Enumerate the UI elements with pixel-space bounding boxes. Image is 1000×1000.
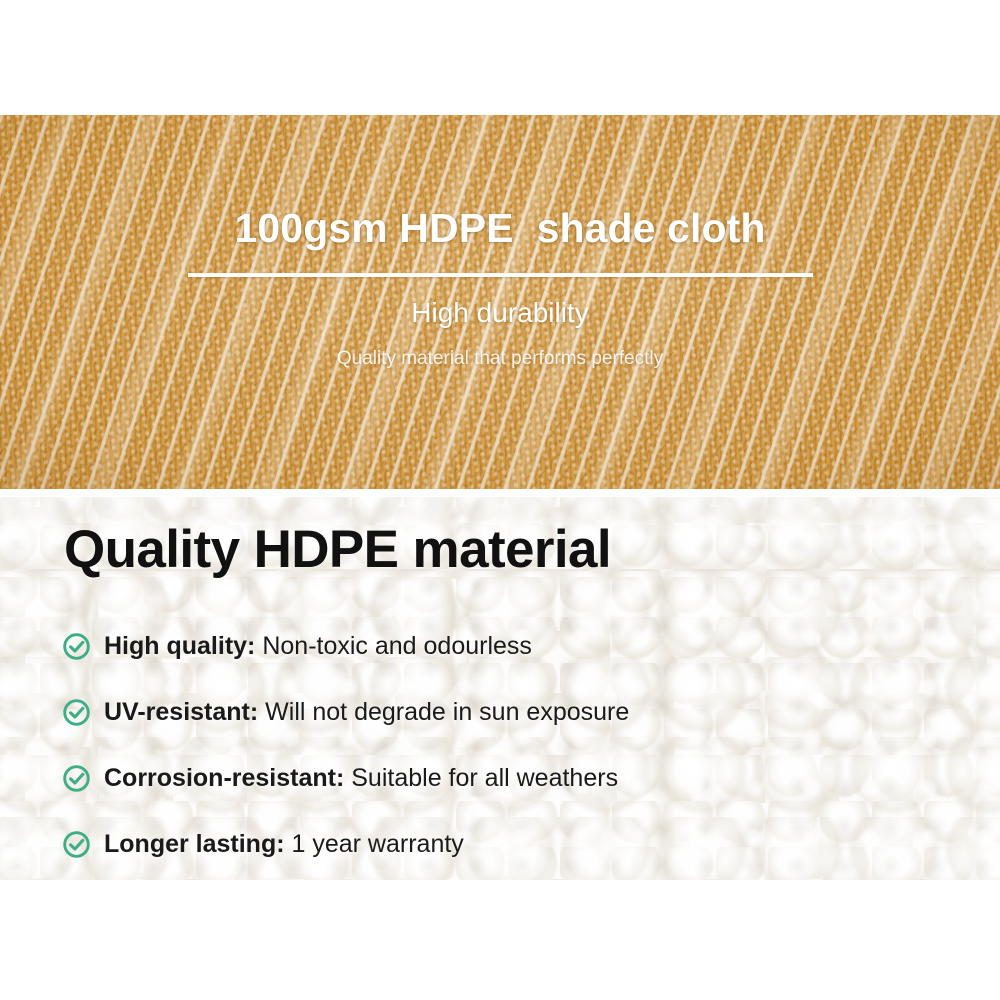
hdpe-pellets-image-panel: Quality HDPE material High quality: Non-… <box>0 497 1000 880</box>
feature-text: UV-resistant: Will not degrade in sun ex… <box>104 700 629 725</box>
feature-text: High quality: Non-toxic and odourless <box>104 634 532 659</box>
feature-list: High quality: Non-toxic and odourless UV… <box>62 613 976 877</box>
hdpe-material-heading: Quality HDPE material <box>64 523 611 576</box>
title-divider-rule <box>188 273 813 277</box>
feature-lead: Longer lasting: <box>104 830 285 858</box>
product-infographic: 100gsm HDPE shade cloth High durability … <box>0 0 1000 1000</box>
feature-lead: Corrosion-resistant: <box>104 764 344 792</box>
list-item: UV-resistant: Will not degrade in sun ex… <box>62 679 976 745</box>
feature-rest: Will not degrade in sun exposure <box>258 698 629 726</box>
check-circle-icon <box>62 830 91 859</box>
list-item: Longer lasting: 1 year warranty <box>62 811 976 877</box>
shade-cloth-image-panel: 100gsm HDPE shade cloth High durability … <box>0 115 1000 489</box>
shade-cloth-text-block: 100gsm HDPE shade cloth High durability … <box>0 115 1000 489</box>
check-circle-icon <box>62 632 91 661</box>
check-circle-icon <box>62 698 91 727</box>
shade-cloth-subtitle: High durability <box>411 299 588 327</box>
hdpe-content-block: Quality HDPE material High quality: Non-… <box>0 497 1000 880</box>
feature-lead: High quality: <box>104 632 255 660</box>
check-circle-icon <box>62 764 91 793</box>
shade-cloth-tagline: Quality material that performs perfectly <box>337 349 663 368</box>
feature-text: Corrosion-resistant: Suitable for all we… <box>104 766 618 791</box>
shade-cloth-title: 100gsm HDPE shade cloth <box>234 208 765 249</box>
list-item: High quality: Non-toxic and odourless <box>62 613 976 679</box>
feature-lead: UV-resistant: <box>104 698 258 726</box>
feature-rest: 1 year warranty <box>285 830 464 858</box>
feature-text: Longer lasting: 1 year warranty <box>104 832 464 857</box>
feature-rest: Suitable for all weathers <box>344 764 618 792</box>
feature-rest: Non-toxic and odourless <box>255 632 532 660</box>
list-item: Corrosion-resistant: Suitable for all we… <box>62 745 976 811</box>
